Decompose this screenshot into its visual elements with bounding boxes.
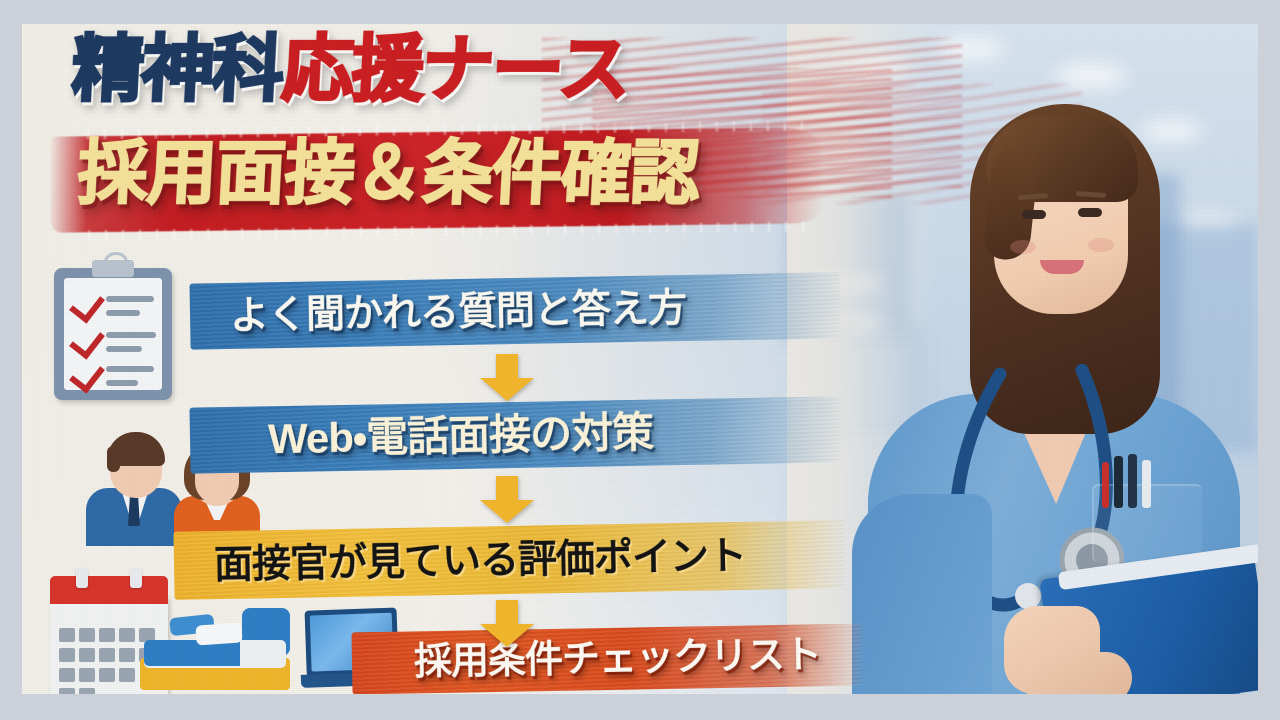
step-row-1-label: よく聞かれる質問と答え方: [230, 289, 687, 336]
step-row-4[interactable]: 採用条件チェックリスト: [351, 624, 862, 694]
step-row-2[interactable]: Web・電話面接の対策: [189, 396, 840, 473]
step-row-2-label: Web・電話面接の対策: [268, 412, 654, 461]
step-row-4-label: 採用条件チェックリスト: [414, 636, 822, 681]
content-canvas: 精神科応援ナース 採用面接＆条件確認: [22, 24, 1258, 694]
steps-list: よく聞かれる質問と答え方 Web・電話面接の対策 面接官が見ている評: [22, 24, 1258, 694]
step-row-3-label: 面接官が見ている評価ポイント: [214, 536, 747, 584]
step-row-3[interactable]: 面接官が見ている評価ポイント: [173, 520, 844, 600]
arrow-down-icon: [478, 354, 536, 402]
thumbnail-stage: 精神科応援ナース 採用面接＆条件確認: [0, 0, 1280, 720]
arrow-down-icon: [478, 476, 536, 524]
arrow-down-icon: [478, 600, 536, 648]
step-row-1[interactable]: よく聞かれる質問と答え方: [189, 272, 840, 349]
